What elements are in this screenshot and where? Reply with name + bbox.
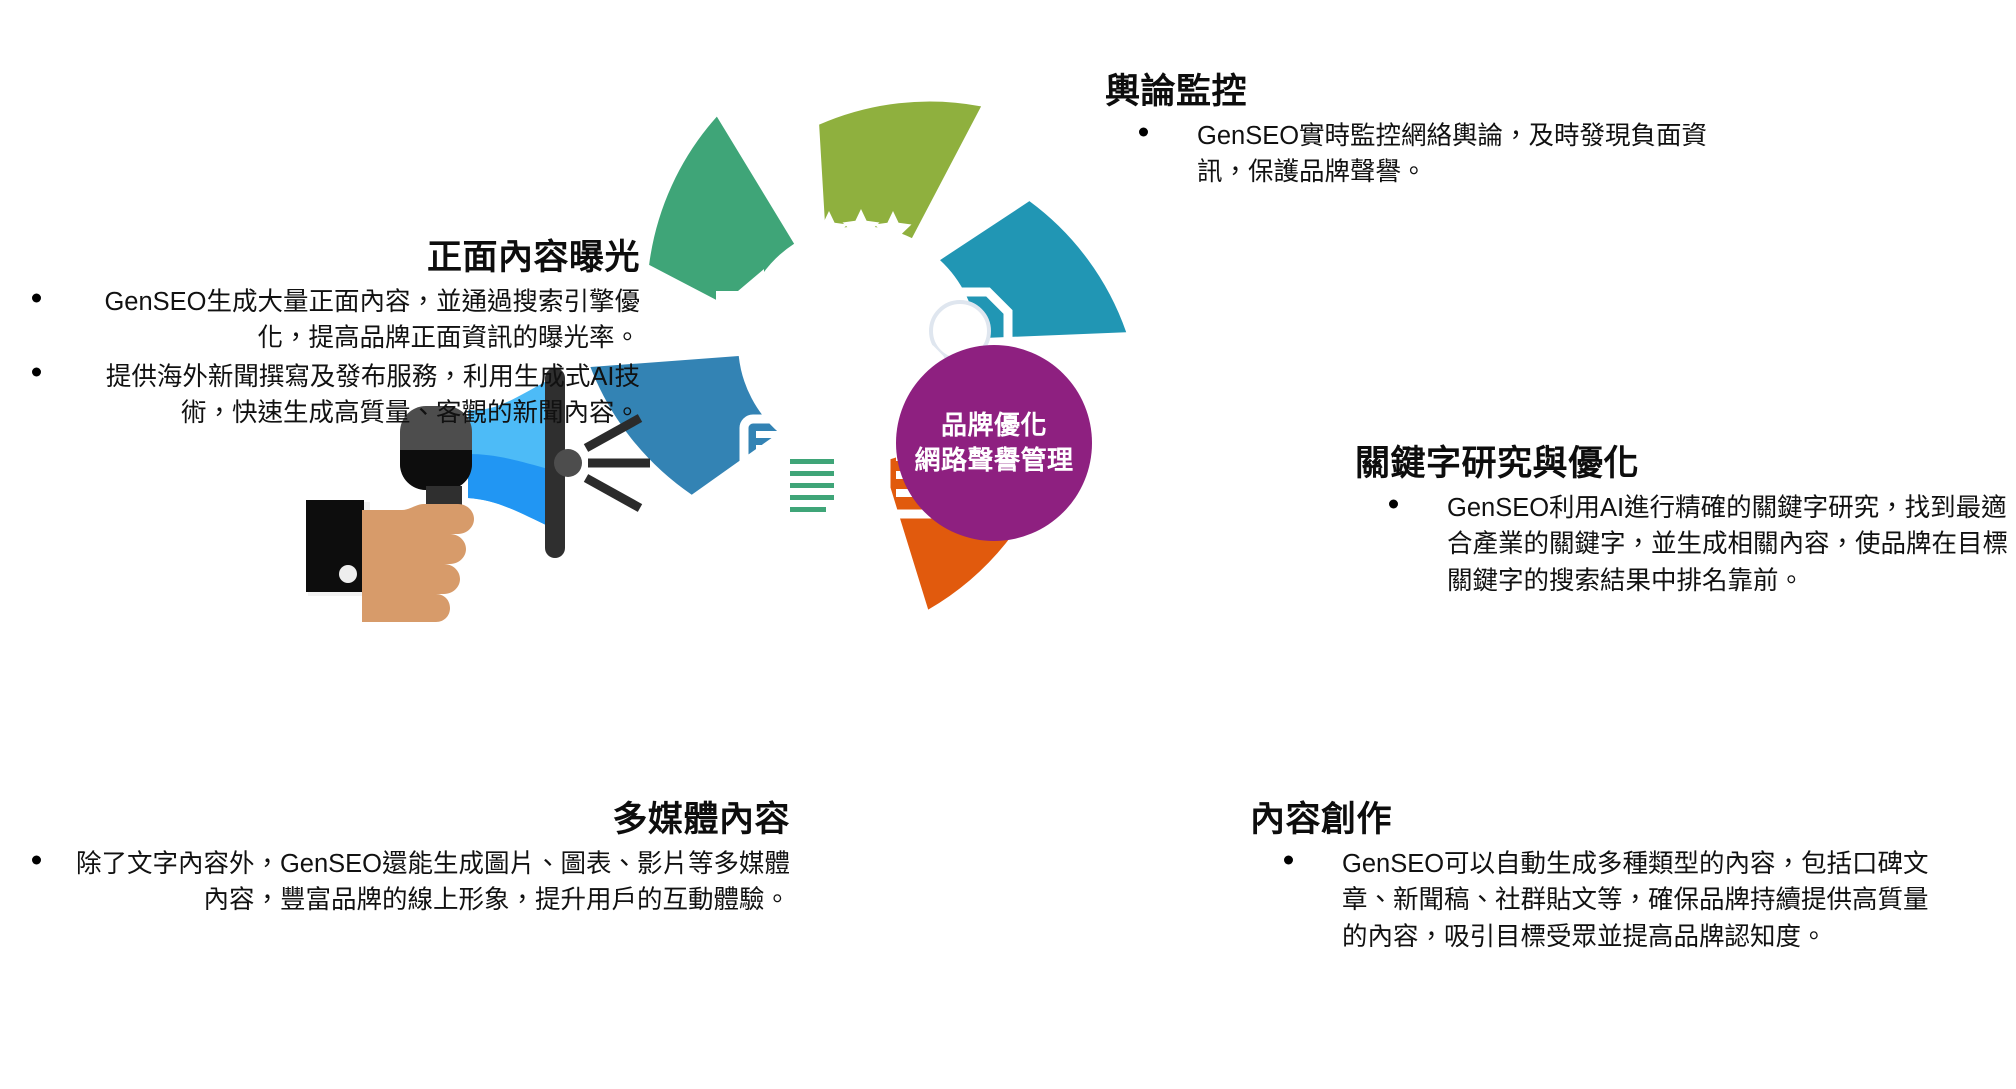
list-item: 除了文字內容外，GenSEO還能生成圖片、圖表、影片等多媒體內容，豐富品牌的線上…: [0, 846, 790, 918]
bullet-list-positive: GenSEO生成大量正面內容，並通過搜索引擎優化，提高品牌正面資訊的曝光率。 提…: [0, 284, 640, 431]
bullet-text: 提供海外新聞撰寫及發布服務，利用生成式AI技術，快速生成高質量、客觀的新聞內容。: [74, 359, 640, 431]
list-item: GenSEO實時監控網絡輿論，及時發現負面資訊，保護品牌聲譽。: [1105, 118, 1725, 190]
petal-multimedia[interactable]: [642, 113, 798, 319]
bullet-dot-icon: [1284, 855, 1293, 864]
center-hub-line2: 網路聲譽管理: [914, 443, 1073, 478]
documents-stack-icon: [744, 419, 846, 523]
bullet-text: 除了文字內容外，GenSEO還能生成圖片、圖表、影片等多媒體內容，豐富品牌的線上…: [74, 846, 790, 918]
section-multimedia: 多媒體內容 除了文字內容外，GenSEO還能生成圖片、圖表、影片等多媒體內容，豐…: [0, 800, 790, 921]
section-content-creation: 內容創作 GenSEO可以自動生成多種類型的內容，包括口碑文章、新聞稿、社群貼文…: [1250, 800, 1950, 957]
bullet-dot-icon: [1389, 499, 1398, 508]
bullet-list-keyword: GenSEO利用AI進行精確的關鍵字研究，找到最適合產業的關鍵字，並生成相關內容…: [1355, 490, 2010, 599]
bullet-text: GenSEO利用AI進行精確的關鍵字研究，找到最適合產業的關鍵字，並生成相關內容…: [1447, 490, 2010, 599]
section-title-sentiment: 輿論監控: [1105, 72, 1725, 112]
section-positive-content: 正面內容曝光 GenSEO生成大量正面內容，並通過搜索引擎優化，提高品牌正面資訊…: [0, 238, 640, 433]
bullet-list-creation: GenSEO可以自動生成多種類型的內容，包括口碑文章、新聞稿、社群貼文等，確保品…: [1250, 846, 1950, 955]
bullet-list-multimedia: 除了文字內容外，GenSEO還能生成圖片、圖表、影片等多媒體內容，豐富品牌的線上…: [0, 846, 790, 918]
center-hub[interactable]: 品牌優化 網路聲譽管理: [896, 345, 1092, 541]
bullet-dot-icon: [1139, 127, 1148, 136]
bullet-dot-icon: [32, 367, 41, 376]
bullet-text: GenSEO可以自動生成多種類型的內容，包括口碑文章、新聞稿、社群貼文等，確保品…: [1342, 846, 1950, 955]
bullet-dot-icon: [32, 855, 41, 864]
bullet-list-sentiment: GenSEO實時監控網絡輿論，及時發現負面資訊，保護品牌聲譽。: [1105, 118, 1725, 190]
section-sentiment-monitoring: 輿論監控 GenSEO實時監控網絡輿論，及時發現負面資訊，保護品牌聲譽。: [1105, 72, 1725, 193]
section-title-creation: 內容創作: [1250, 800, 1950, 840]
section-keyword-research: 關鍵字研究與優化 GenSEO利用AI進行精確的關鍵字研究，找到最適合產業的關鍵…: [1355, 444, 2010, 601]
bullet-dot-icon: [32, 293, 41, 302]
section-title-keyword: 關鍵字研究與優化: [1355, 444, 2010, 484]
center-hub-line1: 品牌優化: [914, 408, 1073, 443]
list-item: GenSEO可以自動生成多種類型的內容，包括口碑文章、新聞稿、社群貼文等，確保品…: [1250, 846, 1950, 955]
list-item: 提供海外新聞撰寫及發布服務，利用生成式AI技術，快速生成高質量、客觀的新聞內容。: [0, 359, 640, 431]
infographic-canvas: 品牌優化 網路聲譽管理: [0, 0, 2016, 1089]
center-hub-label: 品牌優化 網路聲譽管理: [914, 408, 1073, 478]
bullet-text: GenSEO生成大量正面內容，並通過搜索引擎優化，提高品牌正面資訊的曝光率。: [74, 284, 640, 356]
list-item: GenSEO生成大量正面內容，並通過搜索引擎優化，提高品牌正面資訊的曝光率。: [0, 284, 640, 356]
bullet-text: GenSEO實時監控網絡輿論，及時發現負面資訊，保護品牌聲譽。: [1197, 118, 1725, 190]
list-item: GenSEO利用AI進行精確的關鍵字研究，找到最適合產業的關鍵字，並生成相關內容…: [1355, 490, 2010, 599]
section-title-multimedia: 多媒體內容: [0, 800, 790, 840]
section-title-positive: 正面內容曝光: [0, 238, 640, 278]
